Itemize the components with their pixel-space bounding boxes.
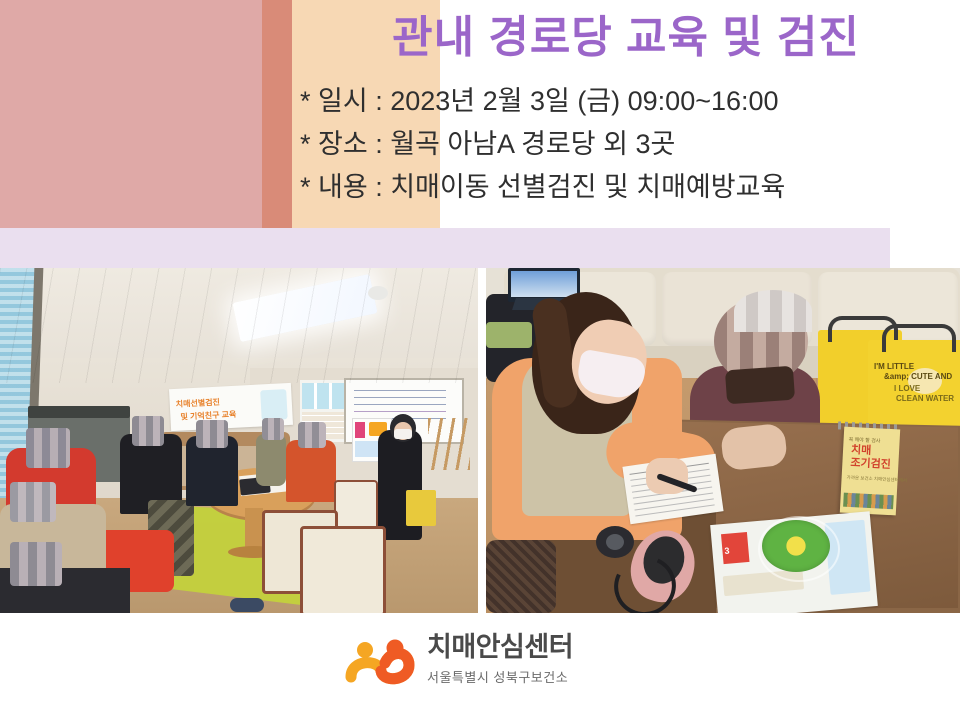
- detail-line-date: * 일시 : 2023년 2월 3일 (금) 09:00~16:00: [300, 88, 960, 115]
- logo-text-group: 치매안심센터 서울특별시 성북구보건소: [427, 633, 627, 686]
- yellow-tote-bag-2-handle: [882, 324, 956, 352]
- yellow-tote-bag-left-photo: [406, 490, 436, 526]
- staff-knit-leg: [486, 540, 556, 613]
- photo-group-screening: I'M LITTLE &amp; CUTE AND I LOVE CLEAN W…: [486, 268, 960, 613]
- wooden-chair-2: [300, 526, 386, 613]
- cabinet-stacked-items: [28, 406, 130, 418]
- tote-text-line4: CLEAN WATER: [896, 394, 954, 403]
- header-text-group: 관내 경로당 교육 및 검진 * 일시 : 2023년 2월 3일 (금) 09…: [292, 0, 960, 226]
- black-round-object: [596, 526, 634, 558]
- pixelated-face-8: [262, 418, 284, 440]
- green-scrubby-wrap: [758, 516, 840, 582]
- brochure-red-badge: 3: [721, 532, 750, 564]
- seated-participant-7: [286, 440, 336, 502]
- pixelated-face-5: [132, 416, 164, 446]
- elderly-white-hair: [734, 290, 812, 332]
- page-title-highlight: 관내: [392, 13, 475, 62]
- seated-participant-8: [256, 434, 286, 486]
- dementia-center-logo-icon: [345, 637, 417, 693]
- standing-info-card: 꼭 해야 할 검사 치매 조기검진 가까운 보건소 치매안심센터에서: [840, 427, 900, 516]
- wall-poster-top: [302, 383, 346, 409]
- pixelated-face-3: [10, 542, 62, 586]
- poster-page: 관내 경로당 교육 및 검진 * 일시 : 2023년 2월 3일 (금) 09…: [0, 0, 960, 720]
- pixelated-face-1: [26, 428, 70, 468]
- black-object-center: [606, 534, 624, 550]
- logo-organization: 서울특별시 성북구보건소: [427, 667, 627, 686]
- standing-card-title-1: 치매: [851, 445, 872, 458]
- participant-shoe: [230, 598, 264, 612]
- tote-text-line3: I LOVE: [894, 384, 920, 393]
- page-title: 관내 경로당 교육 및 검진: [292, 14, 960, 62]
- wall-hanging-sticks: [428, 418, 470, 470]
- detail-line-content: * 내용 : 치매이동 선별검진 및 치매예방교육: [300, 174, 960, 201]
- footer: 치매안심센터 서울특별시 성북구보건소: [0, 613, 960, 720]
- detail-line-place: * 장소 : 월곡 아남A 경로당 외 3곳: [300, 131, 960, 158]
- center-logo: 치매안심센터 서울특별시 성북구보건소: [345, 631, 625, 703]
- table-pedestal: [245, 508, 263, 550]
- tote-text-line1: I'M LITTLE: [874, 362, 914, 371]
- pixelated-face-6: [196, 420, 228, 448]
- presentation-board-red-panel: [355, 422, 365, 438]
- wall-banner-line1: 치매선별검진: [175, 397, 220, 410]
- laptop-display: [511, 271, 577, 297]
- lavender-color-band: [0, 228, 890, 268]
- rose-color-block: [0, 0, 262, 228]
- brochure-badge-number: 3: [724, 546, 730, 556]
- background-person-bag: [486, 322, 532, 348]
- standing-card-title-2: 조기검진: [850, 458, 891, 472]
- wall-banner-badge: [260, 389, 288, 420]
- presenter-mask: [394, 429, 412, 439]
- logo-name: 치매안심센터: [427, 633, 627, 663]
- elderly-scarf: [725, 366, 795, 405]
- pixelated-face-2: [10, 482, 56, 522]
- pixelated-face-7: [298, 422, 326, 448]
- salmon-color-stripe: [262, 0, 292, 248]
- tote-text-line2: &amp; CUTE AND: [884, 372, 952, 381]
- photo-group-education: 치매선별검진 및 기억친구 교육: [0, 268, 478, 613]
- standing-card-people-graphic: [843, 493, 894, 510]
- whiteboard-writing: [354, 390, 446, 391]
- floor-plank-lines: [0, 268, 478, 383]
